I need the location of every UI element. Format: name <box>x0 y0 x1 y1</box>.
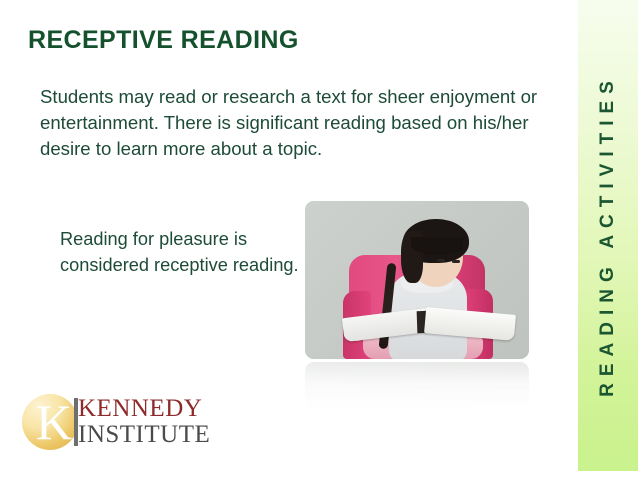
photo-girl-eye-left <box>437 259 445 262</box>
page-title: RECEPTIVE READING <box>28 26 299 55</box>
reflection-wall <box>305 362 529 410</box>
body-paragraph: Students may read or research a text for… <box>40 84 550 162</box>
logo-wordmark: KENNEDY INSTITUTE <box>78 396 210 447</box>
slide-canvas: READING ACTIVITIES RECEPTIVE READING Stu… <box>0 0 638 479</box>
reading-photo-frame <box>305 201 529 359</box>
photo-scene <box>305 201 529 359</box>
logo-name-institute: INSTITUTE <box>78 422 210 447</box>
logo-monogram-k: K <box>30 398 78 446</box>
section-banner: READING ACTIVITIES <box>578 0 638 471</box>
callout-paragraph: Reading for pleasure is considered recep… <box>60 226 300 278</box>
kennedy-institute-logo: K KENNEDY INSTITUTE <box>22 392 212 454</box>
reading-photo <box>305 201 529 359</box>
reading-photo-reflection <box>305 362 529 410</box>
photo-girl-eye-right <box>452 260 460 263</box>
logo-name-kennedy: KENNEDY <box>78 396 210 421</box>
section-banner-label: READING ACTIVITIES <box>578 0 638 471</box>
photo-reflection-scene <box>305 362 529 410</box>
